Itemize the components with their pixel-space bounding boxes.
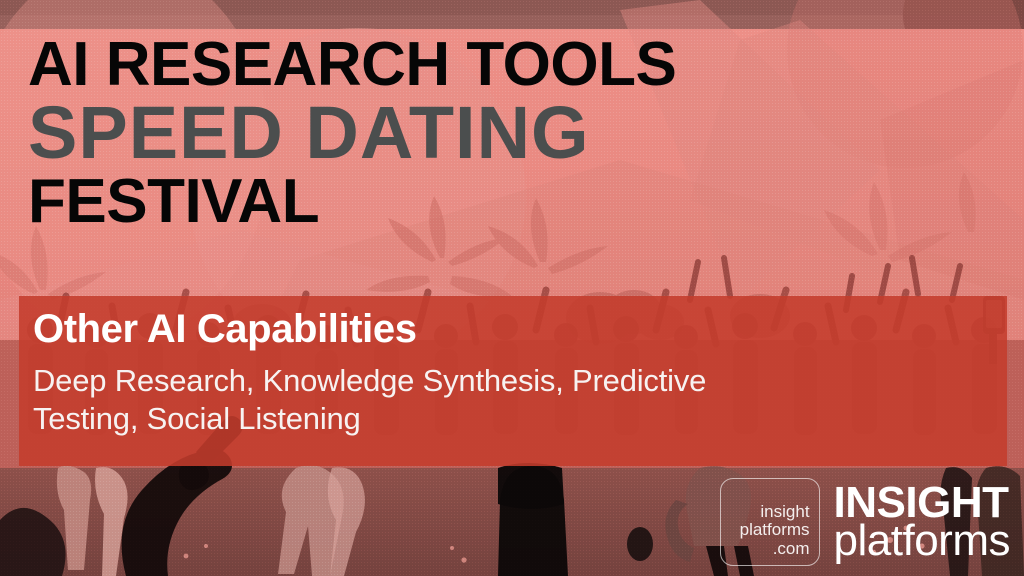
slide-canvas: AI RESEARCH TOOLS SPEED DATING FESTIVAL … — [0, 0, 1024, 576]
headline-line-3: FESTIVAL — [28, 173, 848, 230]
logo-badge-line-2: platforms — [740, 521, 810, 539]
session-subtitle: Deep Research, Knowledge Synthesis, Pred… — [33, 362, 933, 438]
session-subtitle-line-1: Deep Research, Knowledge Synthesis, Pred… — [33, 362, 933, 400]
insight-platforms-logo: insight platforms .com INSIGHT platforms — [720, 478, 1010, 566]
logo-wordmark: INSIGHT platforms — [834, 483, 1010, 562]
session-title: Other AI Capabilities — [33, 307, 417, 352]
headline-block: AI RESEARCH TOOLS SPEED DATING FESTIVAL — [28, 36, 848, 230]
session-subtitle-line-2: Testing, Social Listening — [33, 400, 933, 438]
logo-badge-line-3: .com — [773, 540, 810, 558]
logo-badge-line-1: insight — [760, 503, 809, 521]
logo-badge: insight platforms .com — [720, 478, 820, 566]
logo-wordmark-platforms: platforms — [834, 521, 1010, 561]
headline-line-1: AI RESEARCH TOOLS — [28, 36, 848, 93]
session-banner: Other AI Capabilities Deep Research, Kno… — [19, 296, 1007, 466]
headline-line-2: SPEED DATING — [28, 99, 848, 167]
